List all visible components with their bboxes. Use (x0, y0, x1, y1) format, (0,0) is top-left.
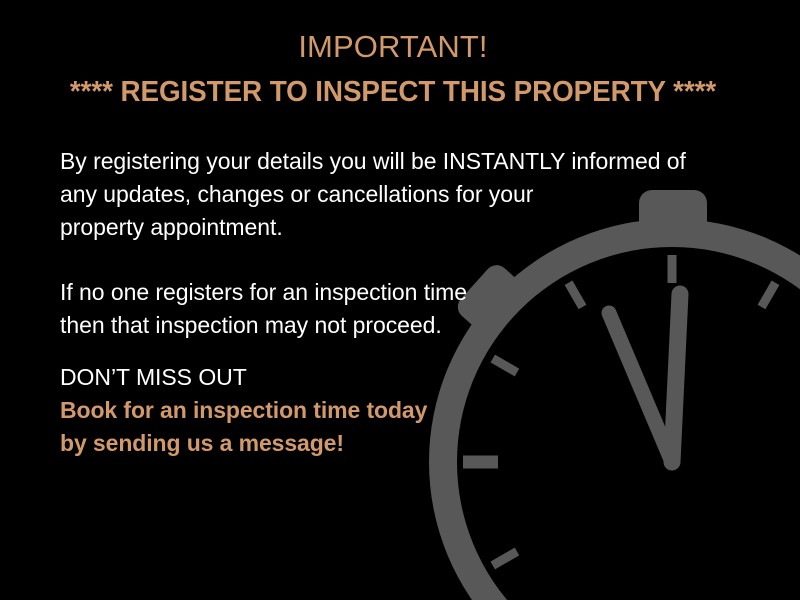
paragraph-registering-line-3: property appointment. (60, 211, 686, 244)
paragraph-registering-line-2: any updates, changes or cancellations fo… (60, 178, 686, 211)
paragraph-no-registrations: If no one registers for an inspection ti… (60, 276, 467, 342)
slide-canvas: IMPORTANT! **** REGISTER TO INSPECT THIS… (0, 0, 800, 600)
paragraph-no-registrations-line-1: If no one registers for an inspection ti… (60, 276, 467, 309)
slide-text-layer: IMPORTANT! **** REGISTER TO INSPECT THIS… (0, 0, 800, 600)
page-title: IMPORTANT! (0, 30, 786, 64)
call-to-action-block: DON’T MISS OUT Book for an inspection ti… (60, 361, 427, 460)
cta-book-inspection: Book for an inspection time today (60, 394, 427, 427)
paragraph-registering-line-1: By registering your details you will be … (60, 145, 686, 178)
cta-dont-miss-out: DON’T MISS OUT (60, 361, 427, 394)
page-subtitle: **** REGISTER TO INSPECT THIS PROPERTY *… (16, 76, 771, 109)
paragraph-no-registrations-line-2: then that inspection may not proceed. (60, 309, 467, 342)
paragraph-registering: By registering your details you will be … (60, 145, 686, 244)
cta-send-message: by sending us a message! (60, 427, 427, 460)
